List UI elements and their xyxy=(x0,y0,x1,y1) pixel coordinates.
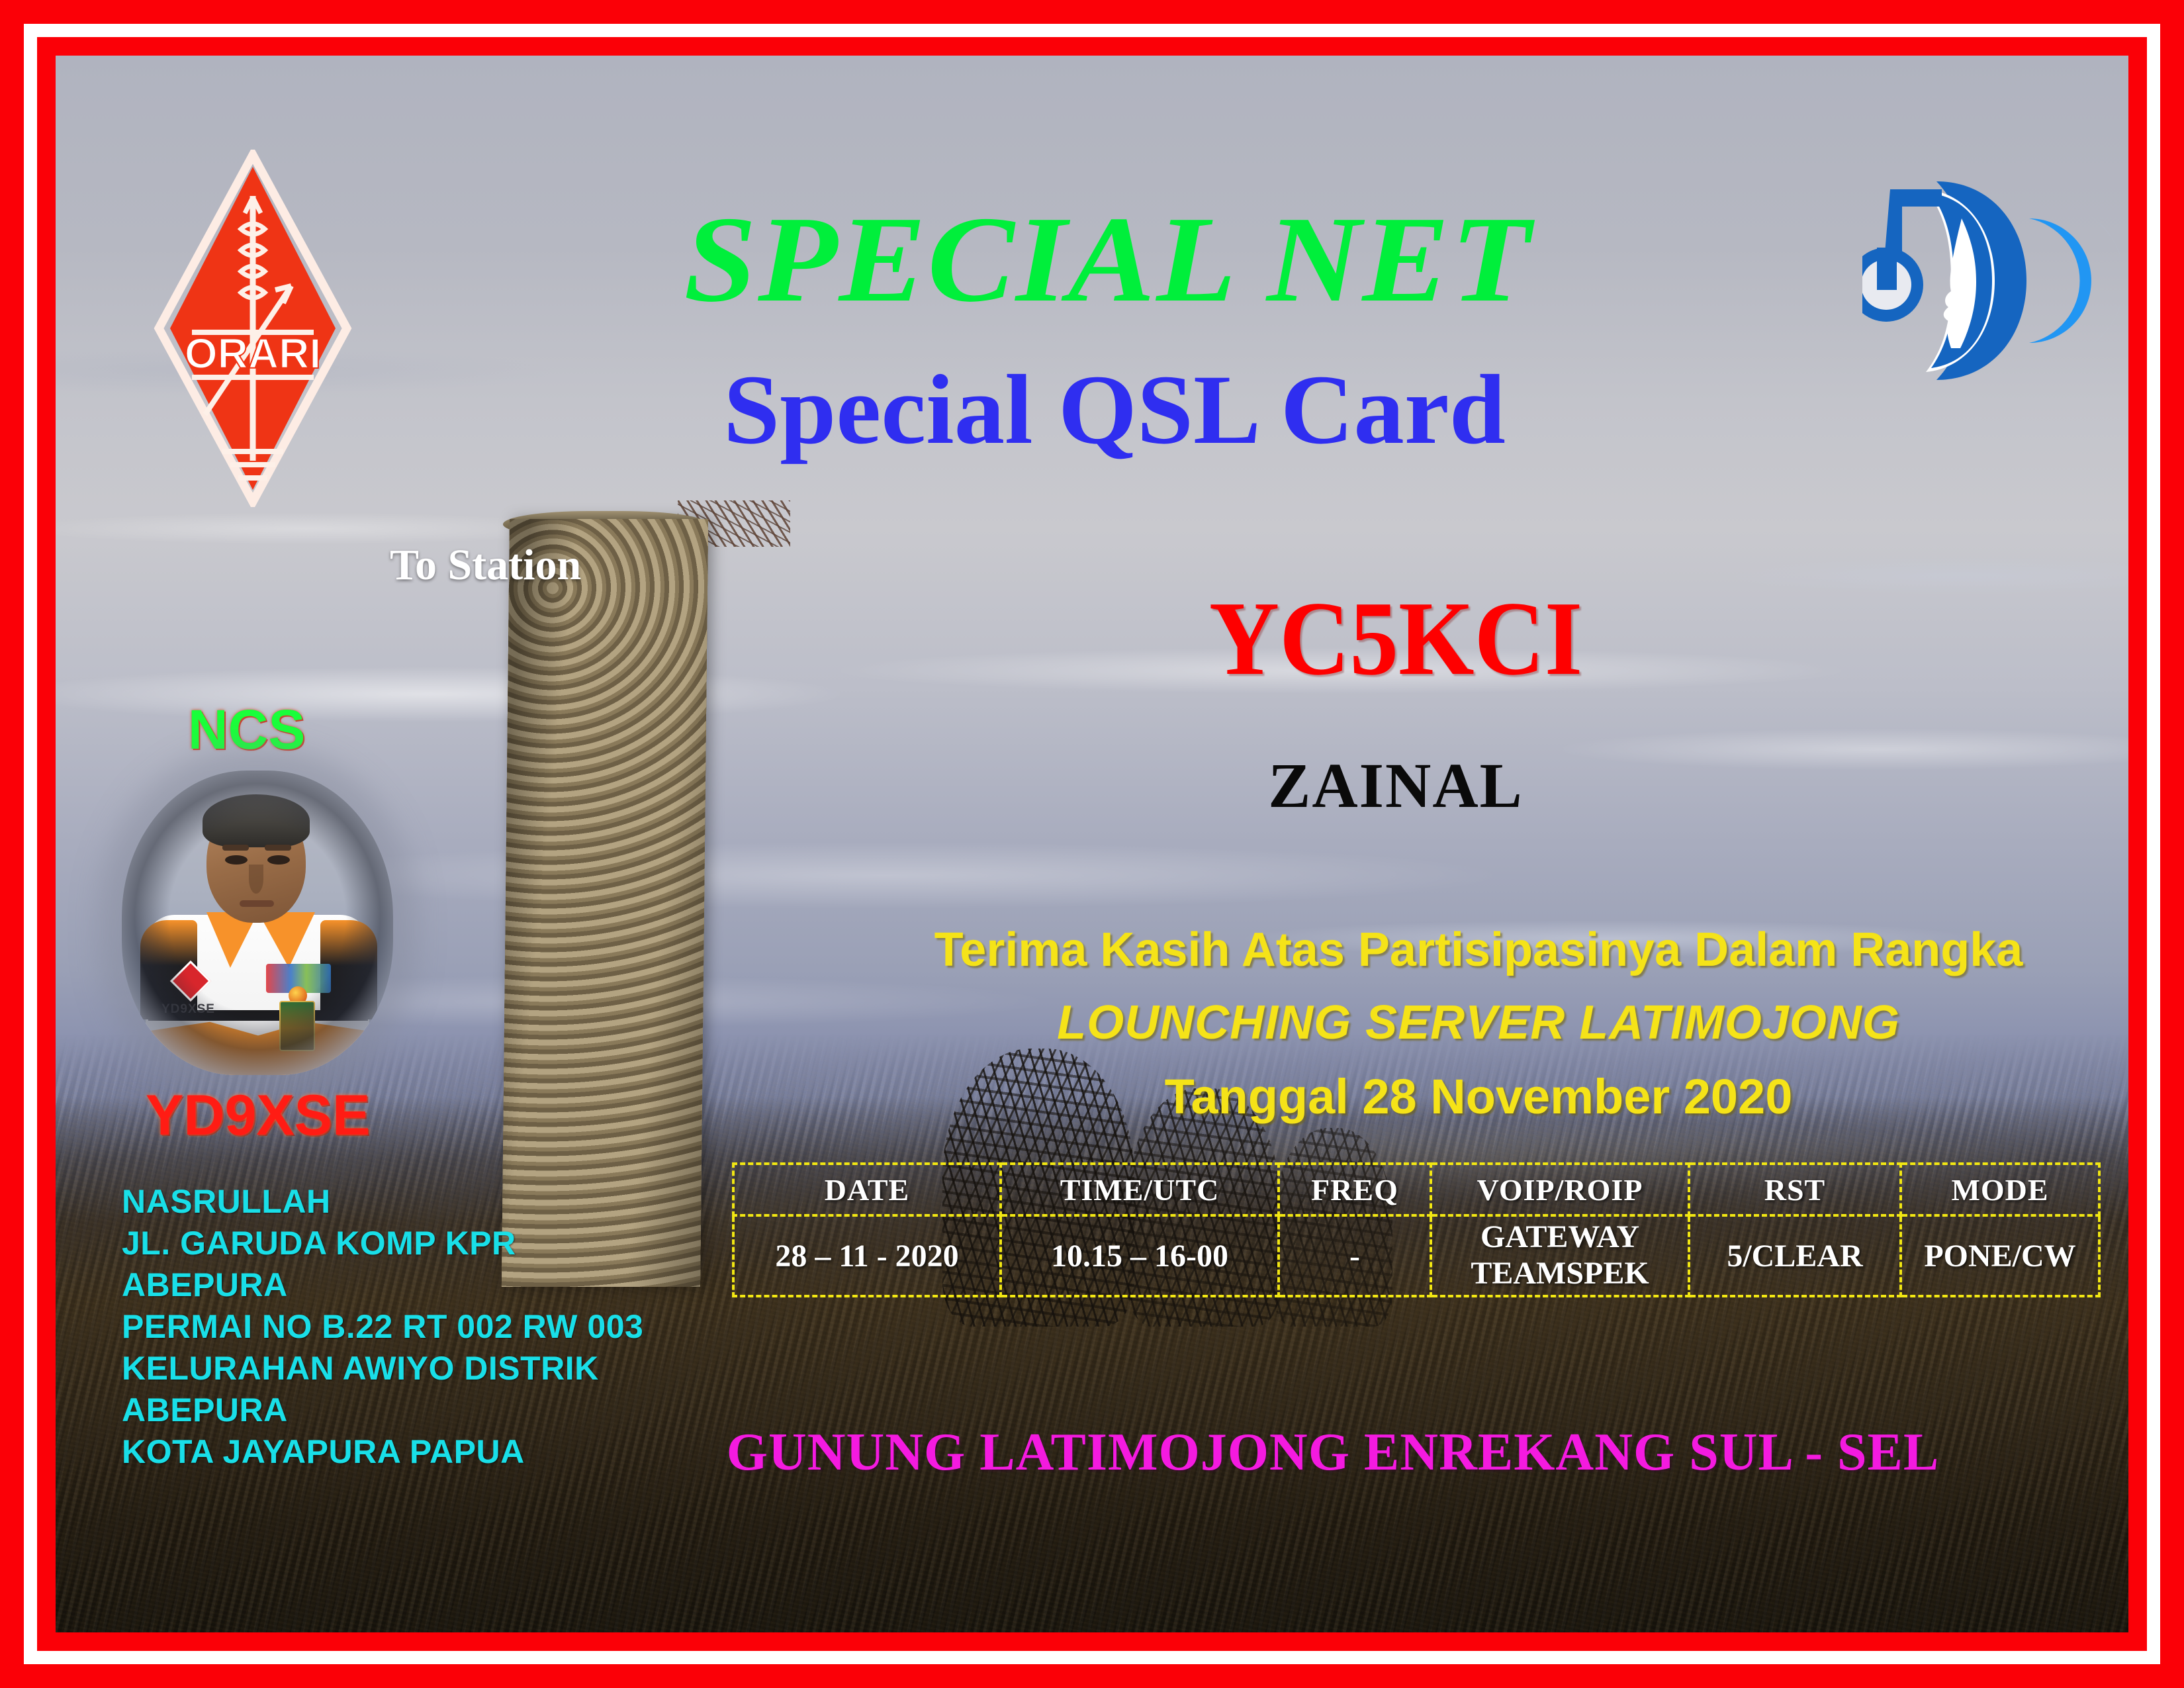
avatar-vignette xyxy=(122,771,393,1075)
col-header-date: DATE xyxy=(733,1164,1001,1215)
col-header-voip: VOIP/ROIP xyxy=(1431,1164,1689,1215)
cell-mode: PONE/CW xyxy=(1901,1215,2099,1296)
event-date: Tanggal 28 November 2020 xyxy=(817,1068,2128,1125)
address-line: ABEPURA xyxy=(122,1264,643,1306)
col-header-time: TIME/UTC xyxy=(1001,1164,1279,1215)
orari-logo: ORARI xyxy=(154,150,352,507)
orari-logo-text: ORARI xyxy=(185,330,321,377)
cell-date: 28 – 11 - 2020 xyxy=(733,1215,1001,1296)
broadcast-headphone-icon xyxy=(1862,155,2120,406)
location-label: GUNUNG LATIMOJONG ENREKANG SUL - SEL xyxy=(704,1423,1962,1483)
cell-time: 10.15 – 16-00 xyxy=(1001,1215,1279,1296)
card-border-white-gap: ORARI xyxy=(24,24,2160,1664)
col-header-mode: MODE xyxy=(1901,1164,2099,1215)
qso-log-table: DATE TIME/UTC FREQ VOIP/ROIP RST MODE 28… xyxy=(732,1162,2101,1297)
address-line: PERMAI NO B.22 RT 002 RW 003 xyxy=(122,1306,643,1348)
table-header-row: DATE TIME/UTC FREQ VOIP/ROIP RST MODE xyxy=(733,1164,2099,1215)
cell-voip: GATEWAY TEAMSPEK xyxy=(1431,1215,1689,1296)
col-header-rst: RST xyxy=(1689,1164,1901,1215)
page-subtitle: Special QSL Card xyxy=(467,360,1762,459)
address-line: ABEPURA xyxy=(122,1389,643,1431)
cell-voip-line2: TEAMSPEK xyxy=(1432,1256,1688,1292)
col-header-freq: FREQ xyxy=(1279,1164,1431,1215)
address-line: NASRULLAH xyxy=(122,1181,643,1223)
station-callsign: YC5KCI xyxy=(1015,585,1776,691)
page-title: SPECIAL NET xyxy=(441,198,1774,321)
card-border-inner-red: ORARI xyxy=(37,37,2147,1651)
address-line: JL. GARUDA KOMP KPR xyxy=(122,1223,643,1264)
address-line: KELURAHAN AWIYO DISTRIK xyxy=(122,1348,643,1389)
qsl-card-frame: ORARI xyxy=(0,0,2184,1688)
ncs-role-label: NCS xyxy=(188,698,305,762)
cell-rst: 5/CLEAR xyxy=(1689,1215,1901,1296)
table-row: 28 – 11 - 2020 10.15 – 16-00 - GATEWAY T… xyxy=(733,1215,2099,1296)
to-station-label: To Station xyxy=(390,540,581,590)
thanks-message: Terima Kasih Atas Partisipasinya Dalam R… xyxy=(817,923,2128,977)
operator-address: NASRULLAH JL. GARUDA KOMP KPR ABEPURA PE… xyxy=(122,1181,643,1473)
address-line: KOTA JAYAPURA PAPUA xyxy=(122,1431,643,1473)
qsl-card-background-photo: ORARI xyxy=(56,56,2128,1632)
event-title: LOUNCHING SERVER LATIMOJONG xyxy=(817,996,2128,1050)
cell-freq: - xyxy=(1279,1215,1431,1296)
station-operator-name: ZAINAL xyxy=(982,754,1809,818)
operator-callsign: YD9XSE xyxy=(146,1083,370,1149)
operator-avatar: YD9XSE xyxy=(122,771,393,1075)
cell-voip-line1: GATEWAY xyxy=(1432,1219,1688,1256)
